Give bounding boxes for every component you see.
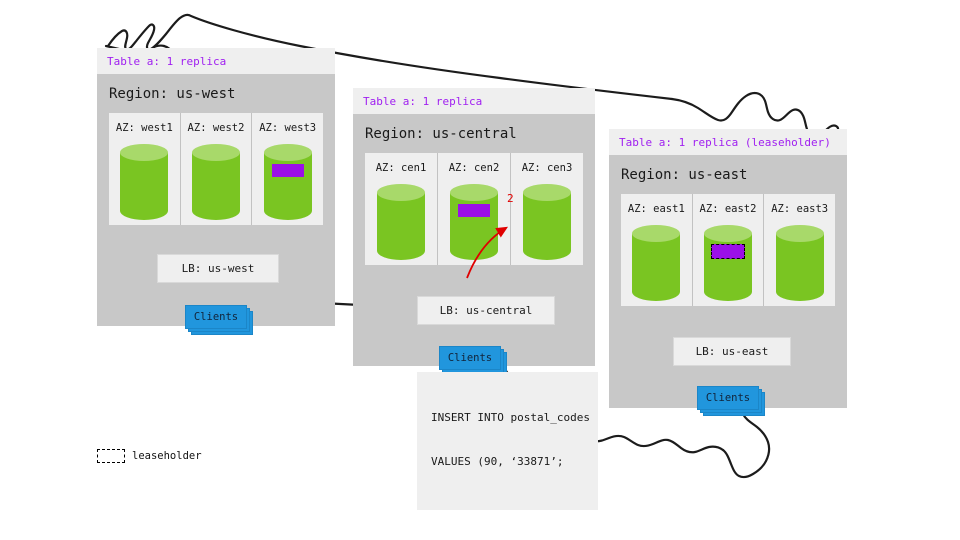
- panel-title-us-east: Table a: 1 replica (leaseholder): [609, 129, 847, 155]
- cylinder-top: [192, 144, 240, 161]
- sql-statement-box: INSERT INTO postal_codes VALUES (90, ‘33…: [417, 372, 598, 510]
- az-cell-east3[interactable]: AZ: east3: [764, 194, 835, 306]
- az-label-west3: AZ: west3: [259, 122, 316, 134]
- clients-stack-layer-1: Clients: [185, 305, 247, 329]
- region-label-us-east: Region: us-east: [609, 155, 847, 194]
- clients-button-us-east[interactable]: Clients: [697, 386, 759, 410]
- cylinder-body: [776, 234, 824, 301]
- node-cylinder-east1[interactable]: [632, 225, 680, 290]
- cylinder-body: [120, 153, 168, 220]
- clients-label-us-central: Clients: [448, 352, 492, 364]
- region-label-us-central: Region: us-central: [353, 114, 595, 153]
- clients-label-us-west: Clients: [194, 311, 238, 323]
- az-cell-cen3[interactable]: AZ: cen3: [511, 153, 583, 265]
- az-label-west2: AZ: west2: [188, 122, 245, 134]
- panel-body-us-east: Region: us-east AZ: east1 AZ: east2: [609, 155, 847, 408]
- clients-stack-layer-1: Clients: [697, 386, 759, 410]
- region-label-us-west: Region: us-west: [97, 74, 335, 113]
- node-cylinder-east2[interactable]: [704, 225, 752, 290]
- az-label-east3: AZ: east3: [771, 203, 828, 215]
- clients-button-us-central[interactable]: Clients: [439, 346, 501, 370]
- cylinder-top: [377, 184, 425, 201]
- region-panel-us-west: Table a: 1 replica Region: us-west AZ: w…: [97, 48, 335, 326]
- az-strip-us-east: AZ: east1 AZ: east2 AZ: east3: [621, 194, 835, 306]
- cylinder-top: [120, 144, 168, 161]
- panel-body-us-central: Region: us-central AZ: cen1 AZ: cen2: [353, 114, 595, 366]
- clients-button-us-west[interactable]: Clients: [185, 305, 247, 329]
- node-cylinder-west1[interactable]: [120, 144, 168, 209]
- cylinder-top: [264, 144, 312, 161]
- cylinder-body: [632, 234, 680, 301]
- az-cell-west3[interactable]: AZ: west3: [252, 113, 323, 225]
- az-label-east2: AZ: east2: [700, 203, 757, 215]
- az-label-west1: AZ: west1: [116, 122, 173, 134]
- clients-label-us-east: Clients: [706, 392, 750, 404]
- replica-marker-west3: [272, 164, 304, 177]
- az-cell-cen1[interactable]: AZ: cen1: [365, 153, 438, 265]
- node-cylinder-cen2[interactable]: [450, 184, 498, 249]
- cylinder-top: [450, 184, 498, 201]
- cylinder-top: [632, 225, 680, 242]
- cylinder-top: [776, 225, 824, 242]
- panel-title-us-west: Table a: 1 replica: [97, 48, 335, 74]
- az-strip-us-west: AZ: west1 AZ: west2 AZ: west3: [109, 113, 323, 225]
- az-cell-east1[interactable]: AZ: east1: [621, 194, 693, 306]
- az-strip-us-central: AZ: cen1 AZ: cen2 AZ: cen3: [365, 153, 583, 265]
- region-panel-us-east: Table a: 1 replica (leaseholder) Region:…: [609, 129, 847, 408]
- region-panel-us-central: Table a: 1 replica Region: us-central AZ…: [353, 88, 595, 366]
- load-balancer-us-central[interactable]: LB: us-central: [417, 296, 555, 325]
- cylinder-top: [704, 225, 752, 242]
- cylinder-top: [523, 184, 571, 201]
- load-balancer-us-east[interactable]: LB: us-east: [673, 337, 791, 366]
- sql-line-2: VALUES (90, ‘33871’;: [431, 455, 586, 470]
- az-label-east1: AZ: east1: [628, 203, 685, 215]
- node-cylinder-west3[interactable]: [264, 144, 312, 209]
- cylinder-body: [192, 153, 240, 220]
- clients-stack-layer-1: Clients: [439, 346, 501, 370]
- az-label-cen2: AZ: cen2: [449, 162, 500, 174]
- panel-title-us-central: Table a: 1 replica: [353, 88, 595, 114]
- az-label-cen3: AZ: cen3: [522, 162, 573, 174]
- diagram-canvas: Table a: 1 replica Region: us-west AZ: w…: [0, 0, 960, 540]
- leaseholder-replica-marker-east2: [711, 244, 745, 259]
- cylinder-body: [523, 193, 571, 260]
- routing-arrow-label: 2: [507, 192, 514, 205]
- sql-line-1: INSERT INTO postal_codes: [431, 411, 586, 426]
- az-label-cen1: AZ: cen1: [376, 162, 427, 174]
- node-cylinder-cen3[interactable]: [523, 184, 571, 249]
- legend-label: leaseholder: [132, 450, 202, 462]
- leaseholder-swatch-icon: [97, 449, 125, 463]
- az-cell-east2[interactable]: AZ: east2: [693, 194, 765, 306]
- load-balancer-us-west[interactable]: LB: us-west: [157, 254, 279, 283]
- cylinder-body: [377, 193, 425, 260]
- legend-leaseholder: leaseholder: [97, 449, 202, 463]
- replica-marker-cen2: [458, 204, 490, 217]
- panel-body-us-west: Region: us-west AZ: west1 AZ: west2: [97, 74, 335, 326]
- node-cylinder-west2[interactable]: [192, 144, 240, 209]
- az-cell-west1[interactable]: AZ: west1: [109, 113, 181, 225]
- az-cell-cen2[interactable]: AZ: cen2: [438, 153, 511, 265]
- az-cell-west2[interactable]: AZ: west2: [181, 113, 253, 225]
- node-cylinder-cen1[interactable]: [377, 184, 425, 249]
- node-cylinder-east3[interactable]: [776, 225, 824, 290]
